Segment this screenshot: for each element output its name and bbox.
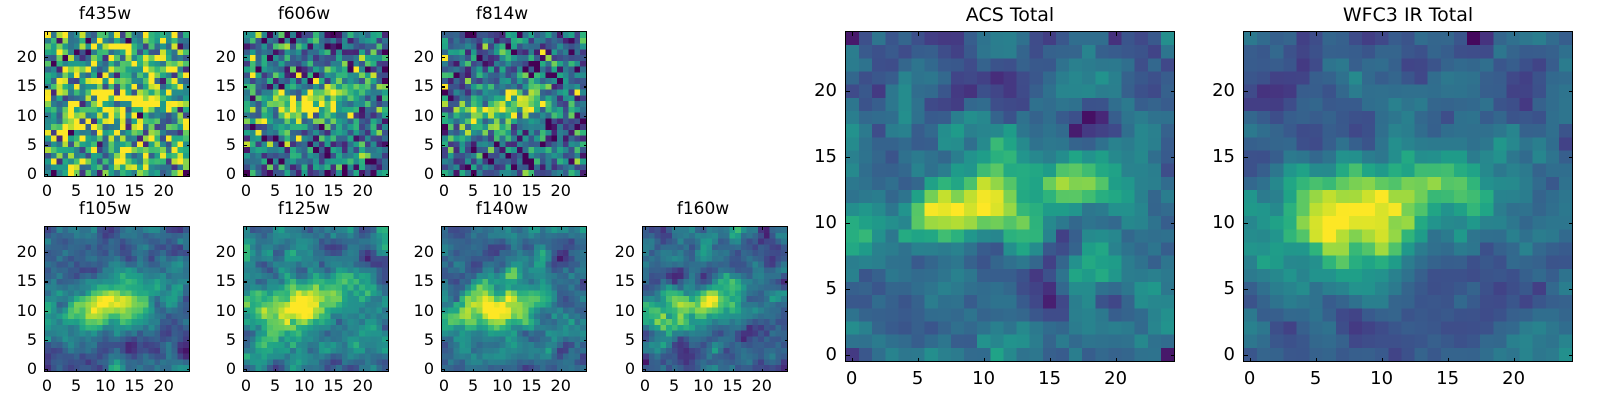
x-tick-mark-top-f140w-20: [561, 226, 562, 230]
x-tick-mark-f125w-20: [363, 369, 364, 373]
x-tick-mark-f435w-20: [164, 174, 165, 178]
heatmap-f435w: [44, 31, 190, 177]
panel-f606w: f606w 0510152005101520: [199, 4, 409, 200]
y-tick-label-f140w-5: 5: [401, 332, 434, 348]
x-tick-mark-f140w-15: [532, 369, 533, 373]
x-tick-mark-f814w-10: [502, 174, 503, 178]
y-tick-mark-right-f140w-10: [584, 311, 588, 312]
y-tick-mark-right-f105w-10: [187, 311, 191, 312]
x-tick-mark-top-f606w-10: [304, 31, 305, 35]
x-tick-mark-f125w-5: [275, 369, 276, 373]
y-tick-mark-right-f140w-0: [584, 369, 588, 370]
y-tick-mark-f140w-0: [441, 369, 445, 370]
y-tick-label-f140w-15: 15: [401, 273, 434, 289]
y-tick-mark-right-f814w-5: [584, 145, 588, 146]
x-tick-mark-acs-total-10: [984, 358, 985, 363]
x-tick-label-f125w-10: 10: [294, 378, 314, 394]
x-tick-mark-acs-total-15: [1050, 358, 1051, 363]
x-tick-label-f435w-5: 5: [71, 183, 81, 199]
y-tick-mark-right-f125w-20: [386, 252, 390, 253]
x-tick-mark-top-f814w-0: [444, 31, 445, 35]
x-tick-mark-top-f125w-20: [363, 226, 364, 230]
x-tick-mark-wfc3-ir-total-20: [1514, 358, 1515, 363]
y-tick-label-f160w-10: 10: [602, 303, 635, 319]
x-tick-mark-top-f140w-5: [473, 226, 474, 230]
x-tick-label-wfc3-ir-total-20: 20: [1502, 370, 1525, 388]
x-tick-mark-top-f435w-15: [135, 31, 136, 35]
x-tick-mark-wfc3-ir-total-10: [1382, 358, 1383, 363]
x-tick-label-wfc3-ir-total-0: 0: [1244, 370, 1255, 388]
heatmap-image-f435w: [45, 32, 189, 176]
y-tick-mark-wfc3-ir-total-20: [1243, 91, 1248, 92]
x-tick-mark-wfc3-ir-total-5: [1316, 358, 1317, 363]
y-tick-mark-right-f435w-5: [187, 145, 191, 146]
y-tick-mark-wfc3-ir-total-0: [1243, 355, 1248, 356]
heatmap-image-f140w: [442, 227, 586, 371]
heatmap-image-f814w: [442, 32, 586, 176]
y-tick-label-acs-total-15: 15: [803, 148, 837, 166]
x-tick-label-wfc3-ir-total-15: 15: [1436, 370, 1459, 388]
x-tick-mark-f814w-5: [473, 174, 474, 178]
y-tick-mark-acs-total-0: [845, 355, 850, 356]
x-tick-mark-top-f125w-15: [334, 226, 335, 230]
y-tick-label-acs-total-20: 20: [803, 82, 837, 100]
panel-f140w: f140w 0510152005101520: [397, 199, 607, 400]
y-tick-mark-wfc3-ir-total-15: [1243, 157, 1248, 158]
panel-title-f160w: f160w: [598, 201, 808, 218]
x-tick-label-f814w-0: 0: [439, 183, 449, 199]
x-tick-label-f140w-0: 0: [439, 378, 449, 394]
x-tick-mark-top-f105w-20: [164, 226, 165, 230]
y-tick-mark-right-acs-total-15: [1171, 157, 1176, 158]
x-tick-mark-f160w-5: [674, 369, 675, 373]
y-tick-label-f606w-15: 15: [203, 78, 236, 94]
x-tick-mark-top-f814w-10: [502, 31, 503, 35]
panel-title-f606w: f606w: [199, 6, 409, 23]
x-tick-mark-top-f105w-10: [105, 226, 106, 230]
y-tick-mark-right-f160w-0: [785, 369, 789, 370]
y-tick-mark-acs-total-20: [845, 91, 850, 92]
y-tick-mark-right-f160w-10: [785, 311, 789, 312]
y-tick-mark-f814w-15: [441, 86, 445, 87]
x-tick-label-f140w-15: 15: [521, 378, 541, 394]
y-tick-mark-right-f435w-10: [187, 116, 191, 117]
y-tick-mark-right-f140w-20: [584, 252, 588, 253]
y-tick-mark-right-f606w-5: [386, 145, 390, 146]
y-tick-mark-f105w-20: [44, 252, 48, 253]
panel-title-f105w: f105w: [0, 201, 210, 218]
y-tick-mark-f105w-5: [44, 340, 48, 341]
x-tick-mark-acs-total-5: [918, 358, 919, 363]
x-tick-mark-top-f606w-15: [334, 31, 335, 35]
y-tick-mark-right-f606w-20: [386, 57, 390, 58]
x-tick-label-f606w-10: 10: [294, 183, 314, 199]
y-tick-mark-right-f606w-10: [386, 116, 390, 117]
y-tick-mark-f435w-0: [44, 174, 48, 175]
x-tick-label-f435w-0: 0: [42, 183, 52, 199]
x-tick-mark-f105w-15: [135, 369, 136, 373]
y-tick-label-f435w-5: 5: [4, 137, 37, 153]
x-tick-mark-top-wfc3-ir-total-10: [1382, 31, 1383, 36]
x-tick-mark-acs-total-0: [852, 358, 853, 363]
x-tick-mark-top-f606w-20: [363, 31, 364, 35]
y-tick-mark-f160w-15: [642, 281, 646, 282]
y-tick-mark-f606w-15: [243, 86, 247, 87]
x-tick-label-f105w-15: 15: [124, 378, 144, 394]
y-tick-label-f814w-15: 15: [401, 78, 434, 94]
y-tick-mark-right-f125w-5: [386, 340, 390, 341]
y-tick-mark-f105w-15: [44, 281, 48, 282]
x-tick-mark-top-f105w-15: [135, 226, 136, 230]
y-tick-mark-f125w-15: [243, 281, 247, 282]
x-tick-mark-top-f160w-20: [762, 226, 763, 230]
x-tick-mark-top-f435w-10: [105, 31, 106, 35]
y-tick-label-wfc3-ir-total-10: 10: [1201, 214, 1235, 232]
heatmap-f125w: [243, 226, 389, 372]
y-tick-label-f814w-20: 20: [401, 49, 434, 65]
x-tick-mark-f160w-10: [703, 369, 704, 373]
x-tick-mark-top-f160w-10: [703, 226, 704, 230]
x-tick-label-f105w-10: 10: [95, 378, 115, 394]
x-tick-label-f606w-0: 0: [241, 183, 251, 199]
y-tick-mark-right-f140w-5: [584, 340, 588, 341]
x-tick-label-f105w-5: 5: [71, 378, 81, 394]
y-tick-label-f435w-10: 10: [4, 108, 37, 124]
y-tick-label-f105w-5: 5: [4, 332, 37, 348]
x-tick-label-f160w-0: 0: [640, 378, 650, 394]
x-tick-mark-f435w-5: [76, 174, 77, 178]
y-tick-mark-f435w-15: [44, 86, 48, 87]
heatmap-acs-total: [845, 31, 1175, 362]
y-tick-mark-right-f125w-10: [386, 311, 390, 312]
x-tick-mark-top-f435w-20: [164, 31, 165, 35]
y-tick-label-f160w-15: 15: [602, 273, 635, 289]
panel-title-wfc3-ir-total: WFC3 IR Total: [1243, 6, 1573, 25]
heatmap-image-acs-total: [846, 32, 1174, 361]
x-tick-mark-f105w-10: [105, 369, 106, 373]
y-tick-mark-f435w-20: [44, 57, 48, 58]
y-tick-label-wfc3-ir-total-5: 5: [1201, 280, 1235, 298]
y-tick-mark-f814w-5: [441, 145, 445, 146]
x-tick-mark-top-f105w-5: [76, 226, 77, 230]
figure-canvas: f435w 0510152005101520 f606w 05101520051…: [0, 0, 1600, 400]
y-tick-mark-f606w-20: [243, 57, 247, 58]
panel-title-f435w: f435w: [0, 6, 210, 23]
x-tick-mark-f160w-15: [733, 369, 734, 373]
x-tick-mark-top-f140w-0: [444, 226, 445, 230]
y-tick-mark-wfc3-ir-total-10: [1243, 223, 1248, 224]
y-tick-label-f125w-5: 5: [203, 332, 236, 348]
x-tick-mark-top-f140w-15: [532, 226, 533, 230]
y-tick-mark-right-acs-total-20: [1171, 91, 1176, 92]
y-tick-mark-right-f140w-15: [584, 281, 588, 282]
x-tick-label-f435w-20: 20: [154, 183, 174, 199]
y-tick-mark-f140w-5: [441, 340, 445, 341]
x-tick-label-f125w-0: 0: [241, 378, 251, 394]
panel-f160w: f160w 0510152005101520: [598, 199, 808, 400]
x-tick-mark-f125w-15: [334, 369, 335, 373]
y-tick-mark-f160w-0: [642, 369, 646, 370]
y-tick-mark-right-f160w-15: [785, 281, 789, 282]
x-tick-mark-f105w-5: [76, 369, 77, 373]
y-tick-label-f814w-0: 0: [401, 166, 434, 182]
x-tick-mark-wfc3-ir-total-15: [1448, 358, 1449, 363]
y-tick-mark-f814w-10: [441, 116, 445, 117]
panel-f814w: f814w 0510152005101520: [397, 4, 607, 200]
x-tick-mark-top-f814w-20: [561, 31, 562, 35]
panel-wfc3-ir-total: WFC3 IR Total 0510152005101520: [1198, 0, 1588, 400]
x-tick-mark-acs-total-20: [1116, 358, 1117, 363]
y-tick-mark-right-acs-total-5: [1171, 289, 1176, 290]
x-tick-label-acs-total-0: 0: [846, 370, 857, 388]
x-tick-mark-f140w-20: [561, 369, 562, 373]
x-tick-mark-top-f435w-0: [47, 31, 48, 35]
y-tick-label-acs-total-10: 10: [803, 214, 837, 232]
x-tick-mark-top-f160w-5: [674, 226, 675, 230]
x-tick-label-f160w-20: 20: [752, 378, 772, 394]
x-tick-label-f140w-5: 5: [468, 378, 478, 394]
x-tick-mark-f606w-5: [275, 174, 276, 178]
x-tick-mark-f140w-5: [473, 369, 474, 373]
x-tick-mark-top-f435w-5: [76, 31, 77, 35]
x-tick-mark-f160w-20: [762, 369, 763, 373]
y-tick-mark-right-f814w-10: [584, 116, 588, 117]
y-tick-mark-acs-total-5: [845, 289, 850, 290]
x-tick-label-wfc3-ir-total-10: 10: [1370, 370, 1393, 388]
heatmap-f606w: [243, 31, 389, 177]
y-tick-mark-right-wfc3-ir-total-5: [1569, 289, 1574, 290]
y-tick-label-f125w-0: 0: [203, 361, 236, 377]
y-tick-mark-right-wfc3-ir-total-15: [1569, 157, 1574, 158]
y-tick-mark-right-f125w-15: [386, 281, 390, 282]
y-tick-label-wfc3-ir-total-0: 0: [1201, 346, 1235, 364]
x-tick-mark-f606w-20: [363, 174, 364, 178]
x-tick-mark-f814w-15: [532, 174, 533, 178]
heatmap-f140w: [441, 226, 587, 372]
panel-title-f814w: f814w: [397, 6, 607, 23]
y-tick-mark-right-f814w-0: [584, 174, 588, 175]
y-tick-label-f606w-20: 20: [203, 49, 236, 65]
x-tick-mark-top-wfc3-ir-total-15: [1448, 31, 1449, 36]
y-tick-mark-right-acs-total-10: [1171, 223, 1176, 224]
x-tick-mark-top-f105w-0: [47, 226, 48, 230]
x-tick-label-f125w-15: 15: [323, 378, 343, 394]
y-tick-label-f125w-10: 10: [203, 303, 236, 319]
y-tick-mark-right-f435w-20: [187, 57, 191, 58]
x-tick-label-f140w-20: 20: [551, 378, 571, 394]
x-tick-mark-f606w-15: [334, 174, 335, 178]
x-tick-mark-top-acs-total-5: [918, 31, 919, 36]
x-tick-label-acs-total-20: 20: [1104, 370, 1127, 388]
panel-f435w: f435w 0510152005101520: [0, 4, 210, 200]
heatmap-image-f105w: [45, 227, 189, 371]
y-tick-mark-f435w-10: [44, 116, 48, 117]
y-tick-mark-f140w-10: [441, 311, 445, 312]
y-tick-label-wfc3-ir-total-20: 20: [1201, 82, 1235, 100]
y-tick-label-f125w-20: 20: [203, 244, 236, 260]
x-tick-mark-top-acs-total-10: [984, 31, 985, 36]
y-tick-mark-right-f435w-15: [187, 86, 191, 87]
x-tick-mark-top-wfc3-ir-total-5: [1316, 31, 1317, 36]
panel-title-acs-total: ACS Total: [845, 6, 1175, 25]
y-tick-mark-f160w-10: [642, 311, 646, 312]
y-tick-label-f606w-0: 0: [203, 166, 236, 182]
panel-title-f125w: f125w: [199, 201, 409, 218]
y-tick-mark-f140w-20: [441, 252, 445, 253]
y-tick-label-f140w-0: 0: [401, 361, 434, 377]
x-tick-label-f160w-5: 5: [669, 378, 679, 394]
heatmap-f160w: [642, 226, 788, 372]
x-tick-label-f606w-15: 15: [323, 183, 343, 199]
x-tick-label-f105w-20: 20: [154, 378, 174, 394]
x-tick-mark-top-f125w-0: [246, 226, 247, 230]
y-tick-mark-right-wfc3-ir-total-20: [1569, 91, 1574, 92]
y-tick-mark-f105w-0: [44, 369, 48, 370]
y-tick-label-f160w-5: 5: [602, 332, 635, 348]
x-tick-label-wfc3-ir-total-5: 5: [1310, 370, 1321, 388]
y-tick-mark-right-f435w-0: [187, 174, 191, 175]
y-tick-mark-f105w-10: [44, 311, 48, 312]
x-tick-mark-f435w-10: [105, 174, 106, 178]
x-tick-mark-top-wfc3-ir-total-0: [1250, 31, 1251, 36]
y-tick-label-f435w-0: 0: [4, 166, 37, 182]
heatmap-f814w: [441, 31, 587, 177]
panel-f125w: f125w 0510152005101520: [199, 199, 409, 400]
y-tick-mark-right-f105w-5: [187, 340, 191, 341]
y-tick-mark-right-f105w-20: [187, 252, 191, 253]
y-tick-mark-right-wfc3-ir-total-0: [1569, 355, 1574, 356]
x-tick-label-f435w-10: 10: [95, 183, 115, 199]
x-tick-mark-f814w-20: [561, 174, 562, 178]
y-tick-mark-right-f160w-20: [785, 252, 789, 253]
y-tick-label-acs-total-0: 0: [803, 346, 837, 364]
y-tick-label-f105w-10: 10: [4, 303, 37, 319]
y-tick-mark-right-f105w-0: [187, 369, 191, 370]
y-tick-label-f105w-20: 20: [4, 244, 37, 260]
y-tick-label-f814w-5: 5: [401, 137, 434, 153]
x-tick-mark-top-acs-total-15: [1050, 31, 1051, 36]
x-tick-mark-f125w-10: [304, 369, 305, 373]
x-tick-label-f105w-0: 0: [42, 378, 52, 394]
y-tick-mark-f160w-20: [642, 252, 646, 253]
x-tick-label-f606w-5: 5: [270, 183, 280, 199]
y-tick-label-f814w-10: 10: [401, 108, 434, 124]
y-tick-mark-right-f160w-5: [785, 340, 789, 341]
y-tick-mark-f435w-5: [44, 145, 48, 146]
x-tick-label-f160w-15: 15: [722, 378, 742, 394]
y-tick-label-f435w-20: 20: [4, 49, 37, 65]
y-tick-label-f606w-10: 10: [203, 108, 236, 124]
x-tick-label-acs-total-15: 15: [1038, 370, 1061, 388]
y-tick-mark-right-f814w-20: [584, 57, 588, 58]
heatmap-image-f125w: [244, 227, 388, 371]
x-tick-mark-top-wfc3-ir-total-20: [1514, 31, 1515, 36]
y-tick-mark-f606w-5: [243, 145, 247, 146]
x-tick-mark-top-acs-total-20: [1116, 31, 1117, 36]
y-tick-label-acs-total-5: 5: [803, 280, 837, 298]
x-tick-mark-top-f606w-0: [246, 31, 247, 35]
x-tick-label-f606w-20: 20: [353, 183, 373, 199]
y-tick-mark-right-acs-total-0: [1171, 355, 1176, 356]
y-tick-label-f140w-10: 10: [401, 303, 434, 319]
y-tick-mark-wfc3-ir-total-5: [1243, 289, 1248, 290]
x-tick-label-f814w-15: 15: [521, 183, 541, 199]
x-tick-label-f435w-15: 15: [124, 183, 144, 199]
heatmap-image-f160w: [643, 227, 787, 371]
x-tick-label-f814w-20: 20: [551, 183, 571, 199]
heatmap-image-f606w: [244, 32, 388, 176]
heatmap-f105w: [44, 226, 190, 372]
x-tick-mark-top-f125w-5: [275, 226, 276, 230]
panel-f105w: f105w 0510152005101520: [0, 199, 210, 400]
x-tick-mark-top-f140w-10: [502, 226, 503, 230]
y-tick-label-f160w-20: 20: [602, 244, 635, 260]
panel-acs-total: ACS Total 0510152005101520: [800, 0, 1190, 400]
y-tick-mark-f140w-15: [441, 281, 445, 282]
panel-title-f140w: f140w: [397, 201, 607, 218]
y-tick-mark-f814w-20: [441, 57, 445, 58]
x-tick-mark-top-f814w-5: [473, 31, 474, 35]
y-tick-mark-acs-total-10: [845, 223, 850, 224]
x-tick-label-f160w-10: 10: [693, 378, 713, 394]
heatmap-wfc3-ir-total: [1243, 31, 1573, 362]
y-tick-label-f105w-0: 0: [4, 361, 37, 377]
y-tick-mark-f125w-10: [243, 311, 247, 312]
x-tick-mark-f140w-10: [502, 369, 503, 373]
x-tick-mark-top-f160w-15: [733, 226, 734, 230]
y-tick-mark-f125w-5: [243, 340, 247, 341]
x-tick-mark-f606w-10: [304, 174, 305, 178]
x-tick-mark-top-f814w-15: [532, 31, 533, 35]
y-tick-label-f606w-5: 5: [203, 137, 236, 153]
x-tick-mark-f105w-20: [164, 369, 165, 373]
y-tick-mark-f125w-0: [243, 369, 247, 370]
y-tick-mark-right-f606w-15: [386, 86, 390, 87]
x-tick-label-f814w-10: 10: [492, 183, 512, 199]
y-tick-label-f105w-15: 15: [4, 273, 37, 289]
y-tick-mark-f606w-0: [243, 174, 247, 175]
x-tick-mark-top-f160w-0: [645, 226, 646, 230]
y-tick-label-f160w-0: 0: [602, 361, 635, 377]
y-tick-mark-f160w-5: [642, 340, 646, 341]
x-tick-label-f125w-5: 5: [270, 378, 280, 394]
x-tick-label-acs-total-10: 10: [972, 370, 995, 388]
y-tick-label-f435w-15: 15: [4, 78, 37, 94]
y-tick-mark-acs-total-15: [845, 157, 850, 158]
y-tick-label-f125w-15: 15: [203, 273, 236, 289]
y-tick-mark-right-f606w-0: [386, 174, 390, 175]
x-tick-mark-wfc3-ir-total-0: [1250, 358, 1251, 363]
y-tick-mark-right-f814w-15: [584, 86, 588, 87]
x-tick-mark-top-f606w-5: [275, 31, 276, 35]
x-tick-mark-f435w-15: [135, 174, 136, 178]
y-tick-mark-f814w-0: [441, 174, 445, 175]
y-tick-mark-f606w-10: [243, 116, 247, 117]
y-tick-mark-right-wfc3-ir-total-10: [1569, 223, 1574, 224]
x-tick-mark-top-f125w-10: [304, 226, 305, 230]
x-tick-mark-top-acs-total-0: [852, 31, 853, 36]
x-tick-label-f125w-20: 20: [353, 378, 373, 394]
y-tick-mark-f125w-20: [243, 252, 247, 253]
y-tick-mark-right-f105w-15: [187, 281, 191, 282]
x-tick-label-f814w-5: 5: [468, 183, 478, 199]
y-tick-label-wfc3-ir-total-15: 15: [1201, 148, 1235, 166]
y-tick-label-f140w-20: 20: [401, 244, 434, 260]
x-tick-label-f140w-10: 10: [492, 378, 512, 394]
heatmap-image-wfc3-ir-total: [1244, 32, 1572, 361]
y-tick-mark-right-f125w-0: [386, 369, 390, 370]
x-tick-label-acs-total-5: 5: [912, 370, 923, 388]
